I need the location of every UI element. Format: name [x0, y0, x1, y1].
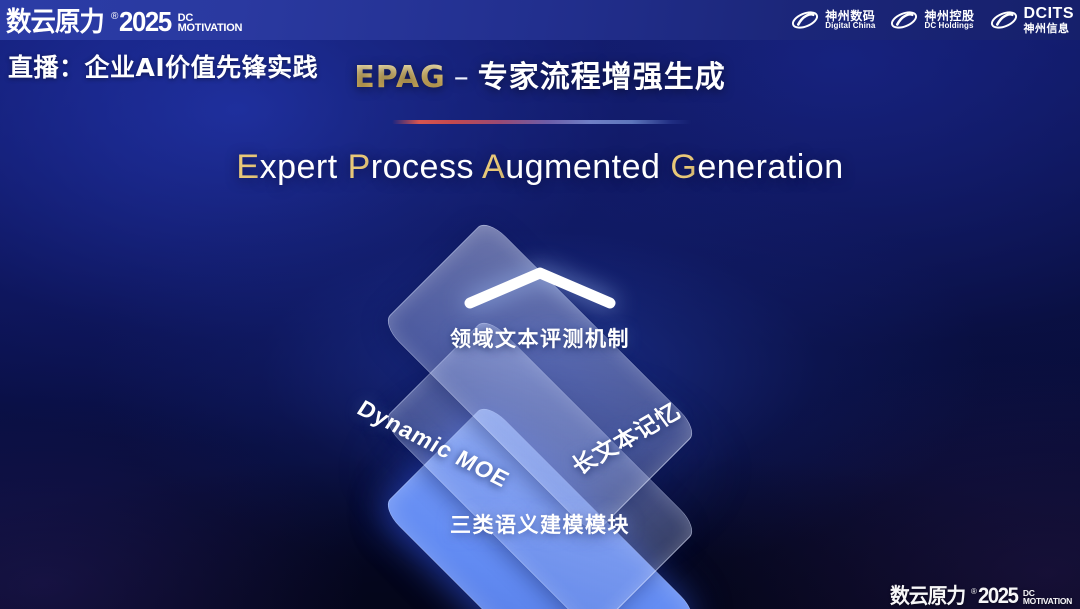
swirl-logo-icon	[989, 8, 1019, 32]
partner-logo-dc-holdings: 神州控股 DC Holdings	[889, 8, 974, 32]
chevron-up-icon	[460, 261, 620, 313]
subtitle-expansion: Expert Process Augmented Generation	[0, 148, 1080, 187]
footer-watermark-logo: 数云原力 ® 2025 DC MOTIVATION	[890, 585, 1072, 607]
watermark-year: 2025	[978, 585, 1018, 607]
subtitle-word-expert: Expert	[236, 148, 337, 186]
partner-logo-text: 神州数码 Digital China	[825, 10, 875, 30]
subtitle-rest: ugmented	[505, 148, 660, 186]
partner-name-en: DC Holdings	[924, 22, 974, 30]
subtitle-cap: E	[236, 148, 259, 186]
title-dash: –	[454, 60, 470, 95]
brand-logo: 数云原力 ® 2025 DC MOTIVATION	[6, 2, 242, 36]
subtitle-cap: P	[348, 148, 371, 186]
brand-name-cn: 数云原力	[6, 9, 104, 36]
subtitle-cap: A	[482, 148, 505, 186]
swirl-logo-icon	[790, 8, 820, 32]
subtitle-word-generation: Generation	[670, 148, 843, 186]
title-chinese: 专家流程增强生成	[478, 60, 726, 95]
subtitle-rest: rocess	[371, 148, 474, 186]
swirl-logo-icon	[889, 8, 919, 32]
partner-logo-dcits: DCITS 神州信息	[989, 6, 1075, 34]
subtitle-word-process: Process	[348, 148, 474, 186]
brand-registered-mark: ®	[111, 12, 118, 22]
partner-name-cn: 神州信息	[1024, 23, 1075, 34]
layered-architecture-diagram: 领域文本评测机制 Dynamic MOE 长文本记忆 三类语义建模模块	[245, 215, 835, 575]
title-acronym: EPAG	[354, 60, 446, 95]
watermark-dc-motivation: DC MOTIVATION	[1023, 589, 1072, 605]
diagram-layer-bottom-label: 三类语义建模模块	[245, 509, 835, 539]
brand-dc-motivation: DC MOTIVATION	[178, 13, 242, 34]
partner-logo-text: DCITS 神州信息	[1024, 6, 1075, 34]
partner-logo-digital-china: 神州数码 Digital China	[790, 8, 875, 32]
brand-year: 2025	[119, 8, 171, 36]
diagram-layer-top-label: 领域文本评测机制	[245, 323, 835, 353]
watermark-name-cn: 数云原力	[890, 586, 965, 607]
partner-logo-group: 神州数码 Digital China 神州控股 DC Holdings	[790, 3, 1074, 37]
subtitle-rest: xpert	[260, 148, 338, 186]
live-stream-label: 直播：企业AI价值先锋实践	[8, 48, 318, 84]
subtitle-word-augmented: Augmented	[482, 148, 660, 186]
watermark-registered-mark: ®	[971, 588, 977, 596]
header-bar: 数云原力 ® 2025 DC MOTIVATION 神州数码 Digital C…	[0, 0, 1080, 40]
partner-name-en: Digital China	[825, 22, 875, 30]
subtitle-cap: G	[670, 148, 697, 186]
title-divider	[392, 120, 692, 124]
partner-name-en: DCITS	[1024, 6, 1075, 22]
slide-canvas: 数云原力 ® 2025 DC MOTIVATION 神州数码 Digital C…	[0, 0, 1080, 609]
subtitle-rest: eneration	[697, 148, 843, 186]
partner-logo-text: 神州控股 DC Holdings	[924, 10, 974, 30]
watermark-dc-line2: MOTIVATION	[1023, 597, 1072, 605]
brand-dc-line2: MOTIVATION	[178, 23, 242, 34]
